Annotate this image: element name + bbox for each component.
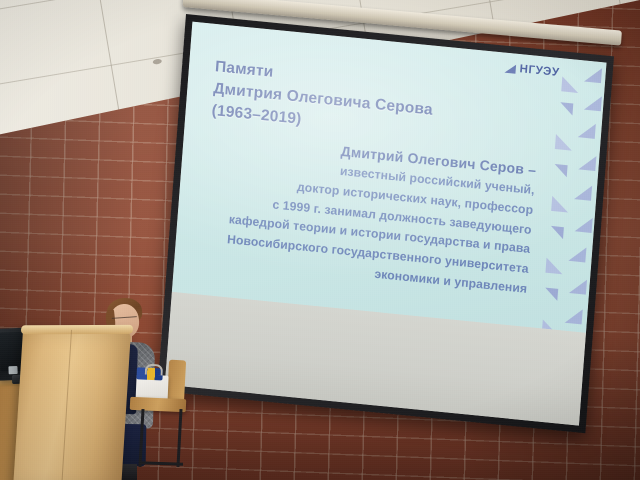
- triangle-mark-icon: [504, 63, 516, 73]
- nsuem-logo: НГУЭУ: [504, 62, 560, 79]
- monitor-indicator-icon: [8, 366, 17, 374]
- bag-handle: [145, 364, 163, 376]
- podium-seam: [60, 330, 72, 480]
- triangle-decoration-band: [528, 57, 606, 333]
- lecture-hall-photo: НГУЭУ: [0, 0, 640, 480]
- logo-wordmark: НГУЭУ: [519, 63, 560, 79]
- podium: [13, 329, 131, 480]
- chair-seat: [130, 397, 187, 413]
- screen-frame: НГУЭУ: [157, 14, 614, 433]
- presentation-slide: НГУЭУ: [172, 22, 607, 333]
- projection-screen: НГУЭУ: [157, 14, 614, 433]
- slide-body-text: Дмитрий Олегович Серов – известный росси…: [198, 128, 537, 300]
- podium-top-edge: [21, 325, 133, 334]
